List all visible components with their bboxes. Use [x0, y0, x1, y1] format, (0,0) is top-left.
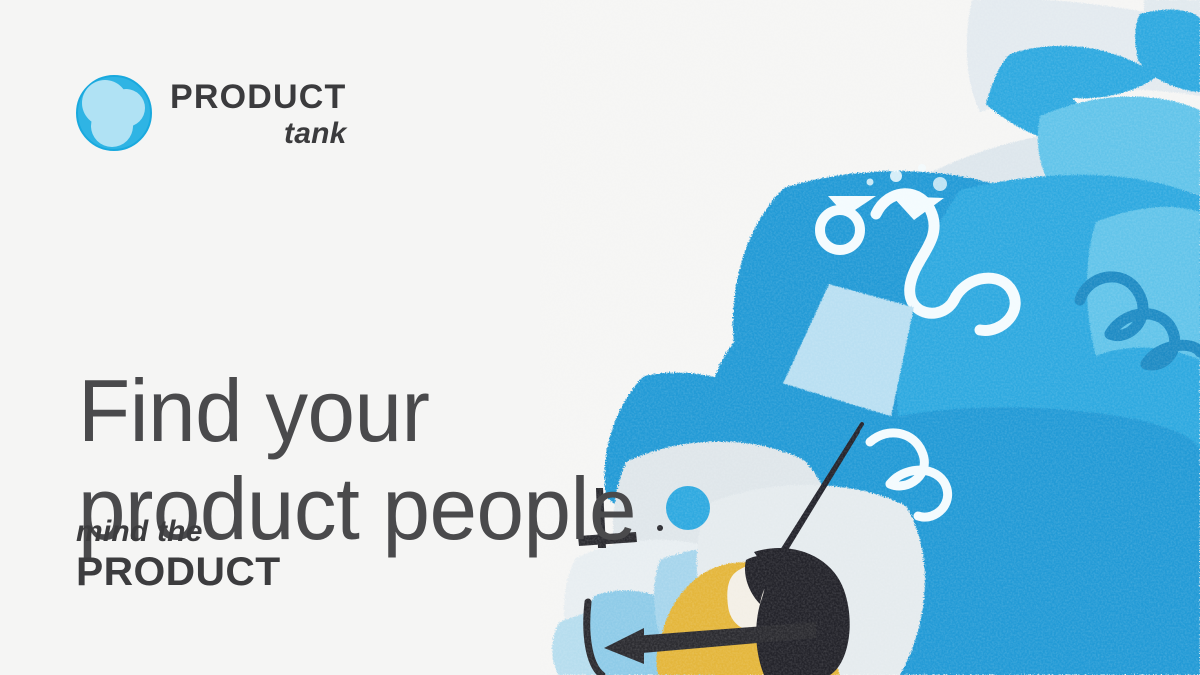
illustration [540, 0, 1200, 675]
mind-the-product-line-2: PRODUCT [76, 552, 281, 592]
mind-the-product-line-1: mind the [76, 517, 277, 547]
page-title: Find your product people [78, 263, 636, 657]
producttank-venn-circles-icon [75, 74, 153, 152]
producttank-tank-word: tank [170, 119, 347, 149]
producttank-wordmark: PRODUCT tank [170, 78, 347, 149]
mind-the-product-logo[interactable]: mind the PRODUCT [76, 517, 277, 592]
producttank-product-word: PRODUCT [170, 80, 347, 114]
producttank-logo[interactable]: PRODUCT tank [75, 74, 347, 152]
poster-canvas: PRODUCT tank Find your product people mi… [0, 0, 1200, 675]
headline-line-1: Find your [78, 361, 429, 460]
